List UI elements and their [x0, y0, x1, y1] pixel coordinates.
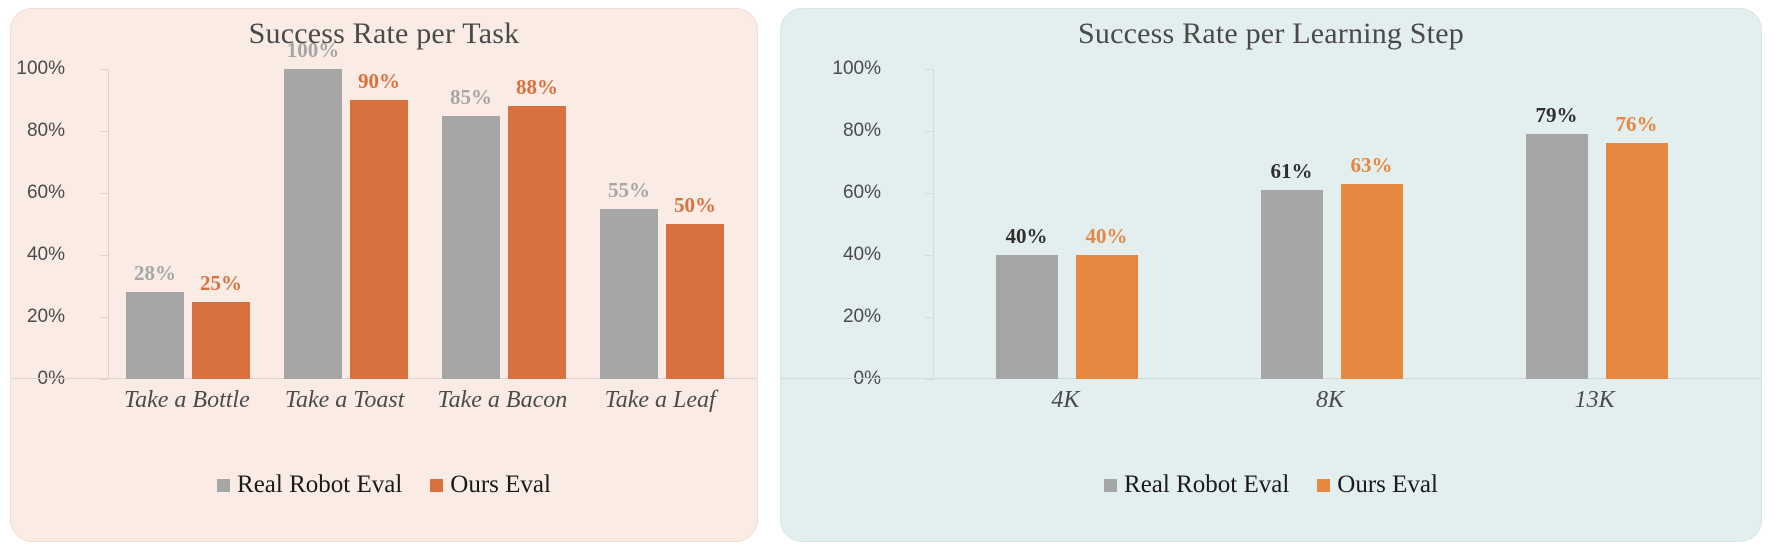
bar-groups-right: 40%40%61%63%79%76% [934, 69, 1729, 379]
bar-value-label: 88% [516, 75, 558, 100]
y-axis-tick [100, 317, 108, 318]
x-axis-category-label: Take a Leaf [581, 387, 739, 414]
bar-groups-left: 28%25%100%90%85%88%55%50% [109, 69, 741, 379]
bar-ours-eval[interactable]: 25% [192, 302, 250, 380]
legend-item[interactable]: Ours Eval [1317, 471, 1438, 499]
bar-real-robot-eval[interactable]: 40% [996, 255, 1058, 379]
legend-swatch-icon [430, 479, 443, 492]
y-tick-label: 40% [27, 244, 65, 266]
bar-real-robot-eval[interactable]: 100% [284, 69, 342, 379]
legend-swatch-icon [1317, 479, 1330, 492]
x-axis-labels-right: 4K8K13K [933, 387, 1727, 414]
x-axis-labels-left: Take a BottleTake a ToastTake a BaconTak… [108, 387, 739, 414]
chart-title-right: Success Rate per Learning Step [781, 17, 1761, 51]
y-axis-tick [100, 69, 108, 70]
y-axis-labels-right: 100%80%60%40%20%0% [781, 69, 911, 379]
bar-value-label: 61% [1271, 159, 1313, 184]
y-axis-tick [925, 131, 933, 132]
y-axis-tick [925, 317, 933, 318]
bar-ours-eval[interactable]: 76% [1606, 143, 1668, 379]
figure-root: Success Rate per Task 100%80%60%40%20%0%… [0, 0, 1774, 550]
y-axis-tick [925, 379, 933, 380]
y-axis-tick [100, 131, 108, 132]
bar-real-robot-eval[interactable]: 85% [442, 116, 500, 380]
bar-ours-eval[interactable]: 63% [1341, 184, 1403, 379]
chart-panel-success-rate-per-learning-step: Success Rate per Learning Step 100%80%60… [780, 8, 1762, 542]
bar-value-label: 40% [1086, 224, 1128, 249]
y-tick-label: 60% [843, 182, 881, 204]
bar-value-label: 85% [450, 85, 492, 110]
bar-value-label: 40% [1006, 224, 1048, 249]
bar-group: 28%25% [109, 69, 267, 379]
chart-title-left: Success Rate per Task [11, 17, 757, 51]
bar-ours-eval[interactable]: 40% [1076, 255, 1138, 379]
plot-area-left: 100%80%60%40%20%0% 28%25%100%90%85%88%55… [11, 69, 758, 379]
bar-value-label: 55% [608, 178, 650, 203]
bar-real-robot-eval[interactable]: 79% [1526, 134, 1588, 379]
bar-ours-eval[interactable]: 90% [350, 100, 408, 379]
y-tick-label: 20% [27, 306, 65, 328]
y-axis-tick [100, 379, 108, 380]
legend-item[interactable]: Ours Eval [430, 471, 551, 499]
legend-item[interactable]: Real Robot Eval [1104, 471, 1289, 499]
y-tick-label: 100% [832, 58, 881, 80]
legend-left: Real Robot EvalOurs Eval [11, 471, 757, 499]
legend-label: Ours Eval [450, 471, 551, 499]
bar-value-label: 100% [287, 38, 340, 63]
bar-group: 100%90% [267, 69, 425, 379]
bar-value-label: 50% [674, 193, 716, 218]
y-axis-tick [925, 193, 933, 194]
y-tick-label: 40% [843, 244, 881, 266]
y-tick-label: 0% [854, 368, 881, 390]
y-tick-label: 80% [27, 120, 65, 142]
bar-group: 40%40% [934, 69, 1199, 379]
x-axis-category-label: 4K [933, 387, 1198, 414]
bar-value-label: 63% [1351, 153, 1393, 178]
x-axis-category-label: 13K [1462, 387, 1727, 414]
bar-real-robot-eval[interactable]: 61% [1261, 190, 1323, 379]
bar-real-robot-eval[interactable]: 28% [126, 292, 184, 379]
y-tick-label: 20% [843, 306, 881, 328]
chart-panel-success-rate-per-task: Success Rate per Task 100%80%60%40%20%0%… [10, 8, 758, 542]
x-axis-category-label: Take a Bottle [108, 387, 266, 414]
legend-swatch-icon [217, 479, 230, 492]
y-axis-tick [100, 255, 108, 256]
y-tick-label: 80% [843, 120, 881, 142]
bar-value-label: 25% [200, 271, 242, 296]
bar-value-label: 76% [1616, 112, 1658, 137]
bar-ours-eval[interactable]: 50% [666, 224, 724, 379]
x-axis-category-label: Take a Toast [266, 387, 424, 414]
legend-label: Real Robot Eval [1124, 471, 1289, 499]
plot-area-right: 100%80%60%40%20%0% 40%40%61%63%79%76% [781, 69, 1762, 379]
y-axis-tick [925, 255, 933, 256]
bar-group: 61%63% [1199, 69, 1464, 379]
y-tick-label: 0% [38, 368, 65, 390]
bar-group: 85%88% [425, 69, 583, 379]
y-axis-tick [100, 193, 108, 194]
y-tick-label: 60% [27, 182, 65, 204]
bar-group: 55%50% [583, 69, 741, 379]
legend-label: Ours Eval [1337, 471, 1438, 499]
x-axis-category-label: 8K [1198, 387, 1463, 414]
bar-value-label: 90% [358, 69, 400, 94]
x-axis-category-label: Take a Bacon [424, 387, 582, 414]
bar-group: 79%76% [1464, 69, 1729, 379]
y-tick-label: 100% [16, 58, 65, 80]
legend-swatch-icon [1104, 479, 1117, 492]
bar-value-label: 28% [134, 261, 176, 286]
y-axis-labels-left: 100%80%60%40%20%0% [11, 69, 91, 379]
legend-right: Real Robot EvalOurs Eval [781, 471, 1761, 499]
y-axis-tick [925, 69, 933, 70]
bar-value-label: 79% [1536, 103, 1578, 128]
bar-real-robot-eval[interactable]: 55% [600, 209, 658, 380]
bar-ours-eval[interactable]: 88% [508, 106, 566, 379]
legend-label: Real Robot Eval [237, 471, 402, 499]
legend-item[interactable]: Real Robot Eval [217, 471, 402, 499]
